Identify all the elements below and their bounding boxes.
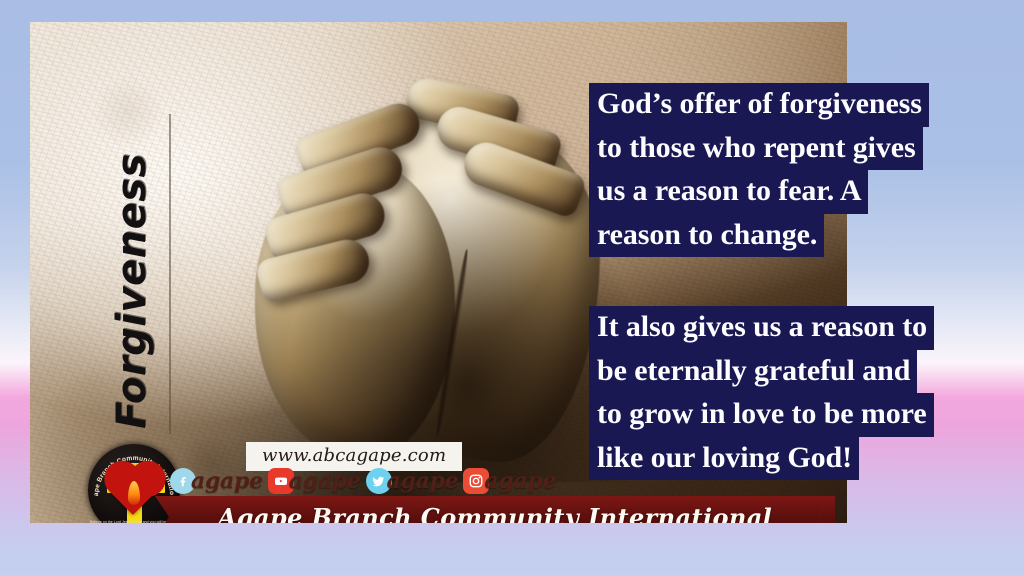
social-link-youtube[interactable]: agape — [268, 468, 361, 494]
instagram-handle: agape — [484, 468, 556, 494]
quote-line: us a reason to fear. A — [589, 170, 868, 214]
quote-line: like our loving God! — [589, 437, 859, 481]
poster-canvas: Forgiveness Agape Branch Community Inter… — [0, 0, 1024, 576]
quote-block-two: It also gives us a reason to be eternall… — [589, 306, 934, 480]
social-link-twitter[interactable]: agape — [366, 468, 459, 494]
quote-line: God’s offer of forgiveness — [589, 83, 929, 127]
social-links-row: agape agape — [170, 468, 560, 494]
organization-ribbon: Agape Branch Community International — [155, 496, 835, 523]
website-url[interactable]: www.abcagape.com — [246, 442, 462, 471]
vertical-rule — [169, 114, 171, 434]
social-link-instagram[interactable]: agape — [463, 468, 556, 494]
forgiveness-word: Forgiveness — [109, 141, 155, 441]
twitter-handle: agape — [387, 468, 459, 494]
quote-line: It also gives us a reason to — [589, 306, 934, 350]
quote-line: reason to change. — [589, 214, 824, 258]
social-link-facebook[interactable]: agape — [170, 468, 263, 494]
facebook-handle: agape — [191, 468, 263, 494]
youtube-handle: agape — [289, 468, 361, 494]
quote-line: to grow in love to be more — [589, 393, 934, 437]
organization-name: Agape Branch Community International — [218, 503, 772, 524]
quote-line: be eternally grateful and — [589, 350, 917, 394]
quote-line: to those who repent gives — [589, 127, 923, 171]
quote-block-one: God’s offer of forgiveness to those who … — [589, 83, 929, 257]
clasped-hands-illustration — [200, 52, 630, 482]
